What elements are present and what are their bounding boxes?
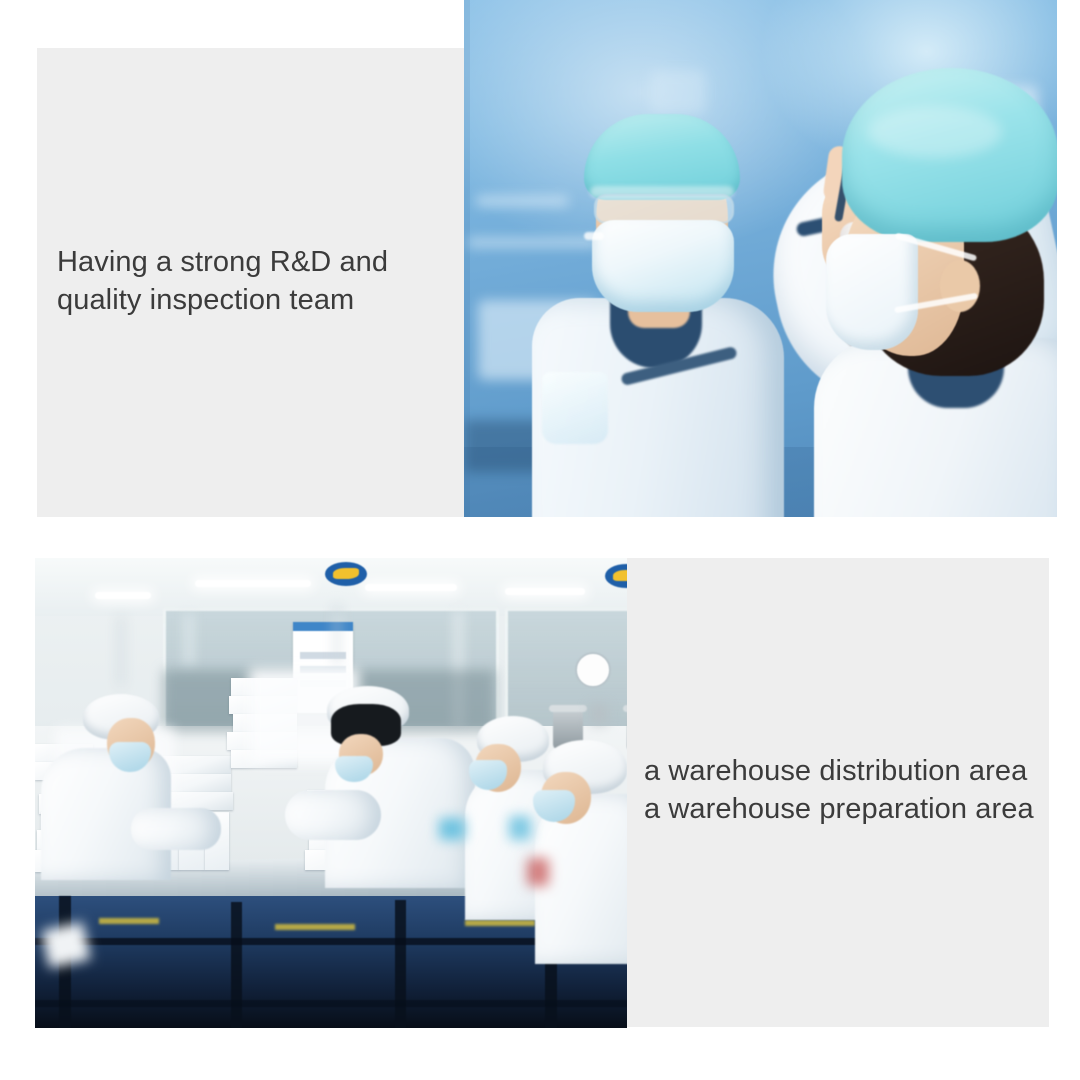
wall-mullion bbox=[185, 614, 193, 666]
lab-team-photo bbox=[464, 0, 1057, 517]
blue-label bbox=[509, 816, 531, 840]
logo-roundel-icon bbox=[325, 562, 367, 586]
warehouse-packing-photo bbox=[35, 558, 627, 1028]
ceiling-light bbox=[195, 580, 311, 587]
lab-worker-profile bbox=[820, 38, 1057, 517]
beaker bbox=[542, 372, 608, 444]
table-leg bbox=[395, 900, 406, 1028]
hanging-cable bbox=[335, 604, 339, 668]
floor-marking bbox=[465, 920, 535, 926]
slide-canvas: Having a strong R&D and quality inspecti… bbox=[0, 0, 1080, 1080]
paper-scrap bbox=[42, 922, 91, 968]
face-mask bbox=[826, 234, 918, 350]
blue-label bbox=[439, 818, 465, 840]
top-caption-text: Having a strong R&D and quality inspecti… bbox=[57, 243, 457, 320]
hairnet-cap-icon bbox=[842, 68, 1057, 242]
mask-strap bbox=[584, 232, 604, 240]
floor-marking bbox=[99, 918, 159, 924]
table-rail bbox=[35, 1000, 627, 1007]
arm bbox=[285, 790, 381, 840]
hanging-cable bbox=[119, 616, 123, 686]
ceiling-light bbox=[95, 592, 151, 599]
wall-clock-icon bbox=[575, 652, 611, 688]
table-leg bbox=[231, 902, 242, 1028]
ceiling-light bbox=[505, 588, 585, 595]
red-item bbox=[527, 858, 549, 886]
floor-marking bbox=[275, 924, 355, 930]
ceiling-light bbox=[365, 584, 457, 591]
small-vessel bbox=[591, 704, 607, 724]
arm bbox=[131, 808, 221, 850]
bottom-caption-text: a warehouse distribution area a warehous… bbox=[644, 752, 1044, 829]
